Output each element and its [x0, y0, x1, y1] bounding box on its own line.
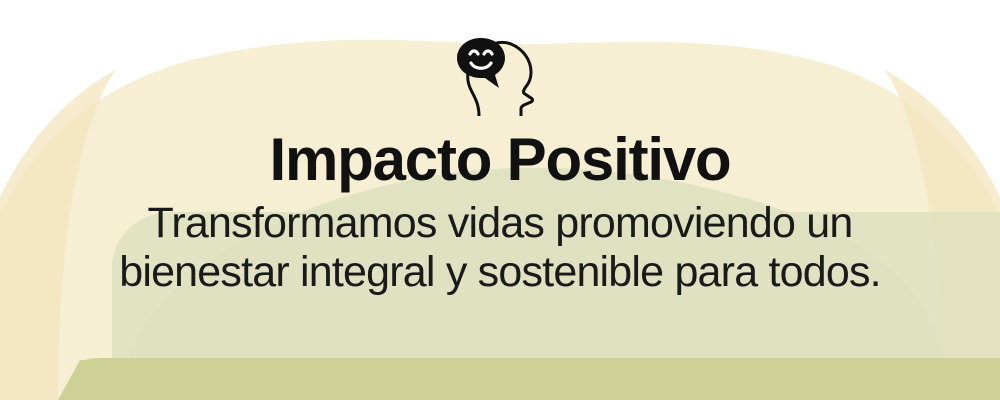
subtitle-line-2: bienestar integral y sostenible para tod… [119, 248, 881, 297]
speech-bubble-icon [457, 38, 505, 88]
subtitle-line-1: Transformamos vidas promoviendo un [119, 199, 881, 248]
page-subtitle: Transformamos vidas promoviendo un biene… [119, 199, 881, 297]
banner-content: Impacto Positivo Transformamos vidas pro… [0, 0, 1000, 400]
impacto-positivo-banner: Impacto Positivo Transformamos vidas pro… [0, 0, 1000, 400]
head-profile-speech-bubble-smiley-icon [455, 34, 545, 116]
page-title: Impacto Positivo [270, 128, 731, 191]
